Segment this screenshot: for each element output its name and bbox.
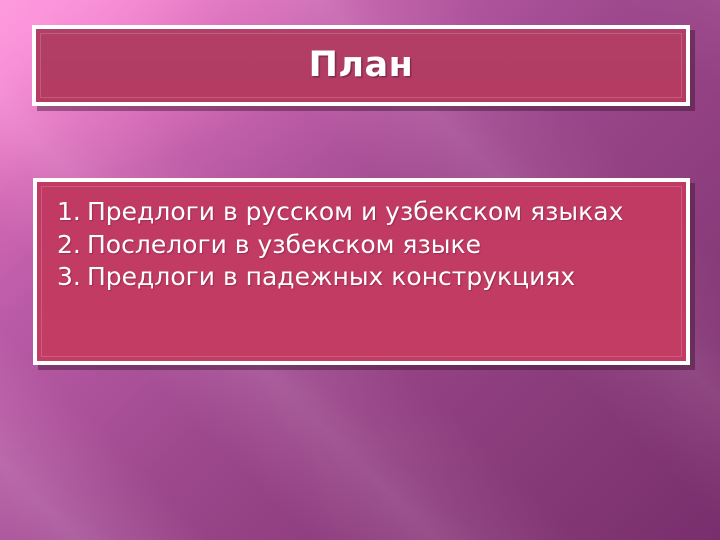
list-item: 2.Послелоги в узбекском языке [57, 229, 668, 261]
slide-title: План [309, 48, 414, 83]
list-item-number: 2. [57, 229, 81, 261]
list-item: 3.Предлоги в падежных конструкциях [57, 261, 668, 293]
list-item: 1.Предлоги в русском и узбекском языках [57, 196, 668, 228]
title-panel: План [32, 25, 690, 106]
list-item-number: 3. [57, 261, 81, 293]
list-item-text: Предлоги в падежных конструкциях [87, 262, 575, 291]
list-item-number: 1. [57, 196, 81, 228]
list-item-text: Послелоги в узбекском языке [87, 230, 481, 259]
slide: План 1.Предлоги в русском и узбекском яз… [0, 0, 720, 540]
content-panel: 1.Предлоги в русском и узбекском языках … [33, 178, 690, 365]
plan-list: 1.Предлоги в русском и узбекском языках … [57, 196, 668, 293]
list-item-text: Предлоги в русском и узбекском языках [87, 197, 623, 226]
